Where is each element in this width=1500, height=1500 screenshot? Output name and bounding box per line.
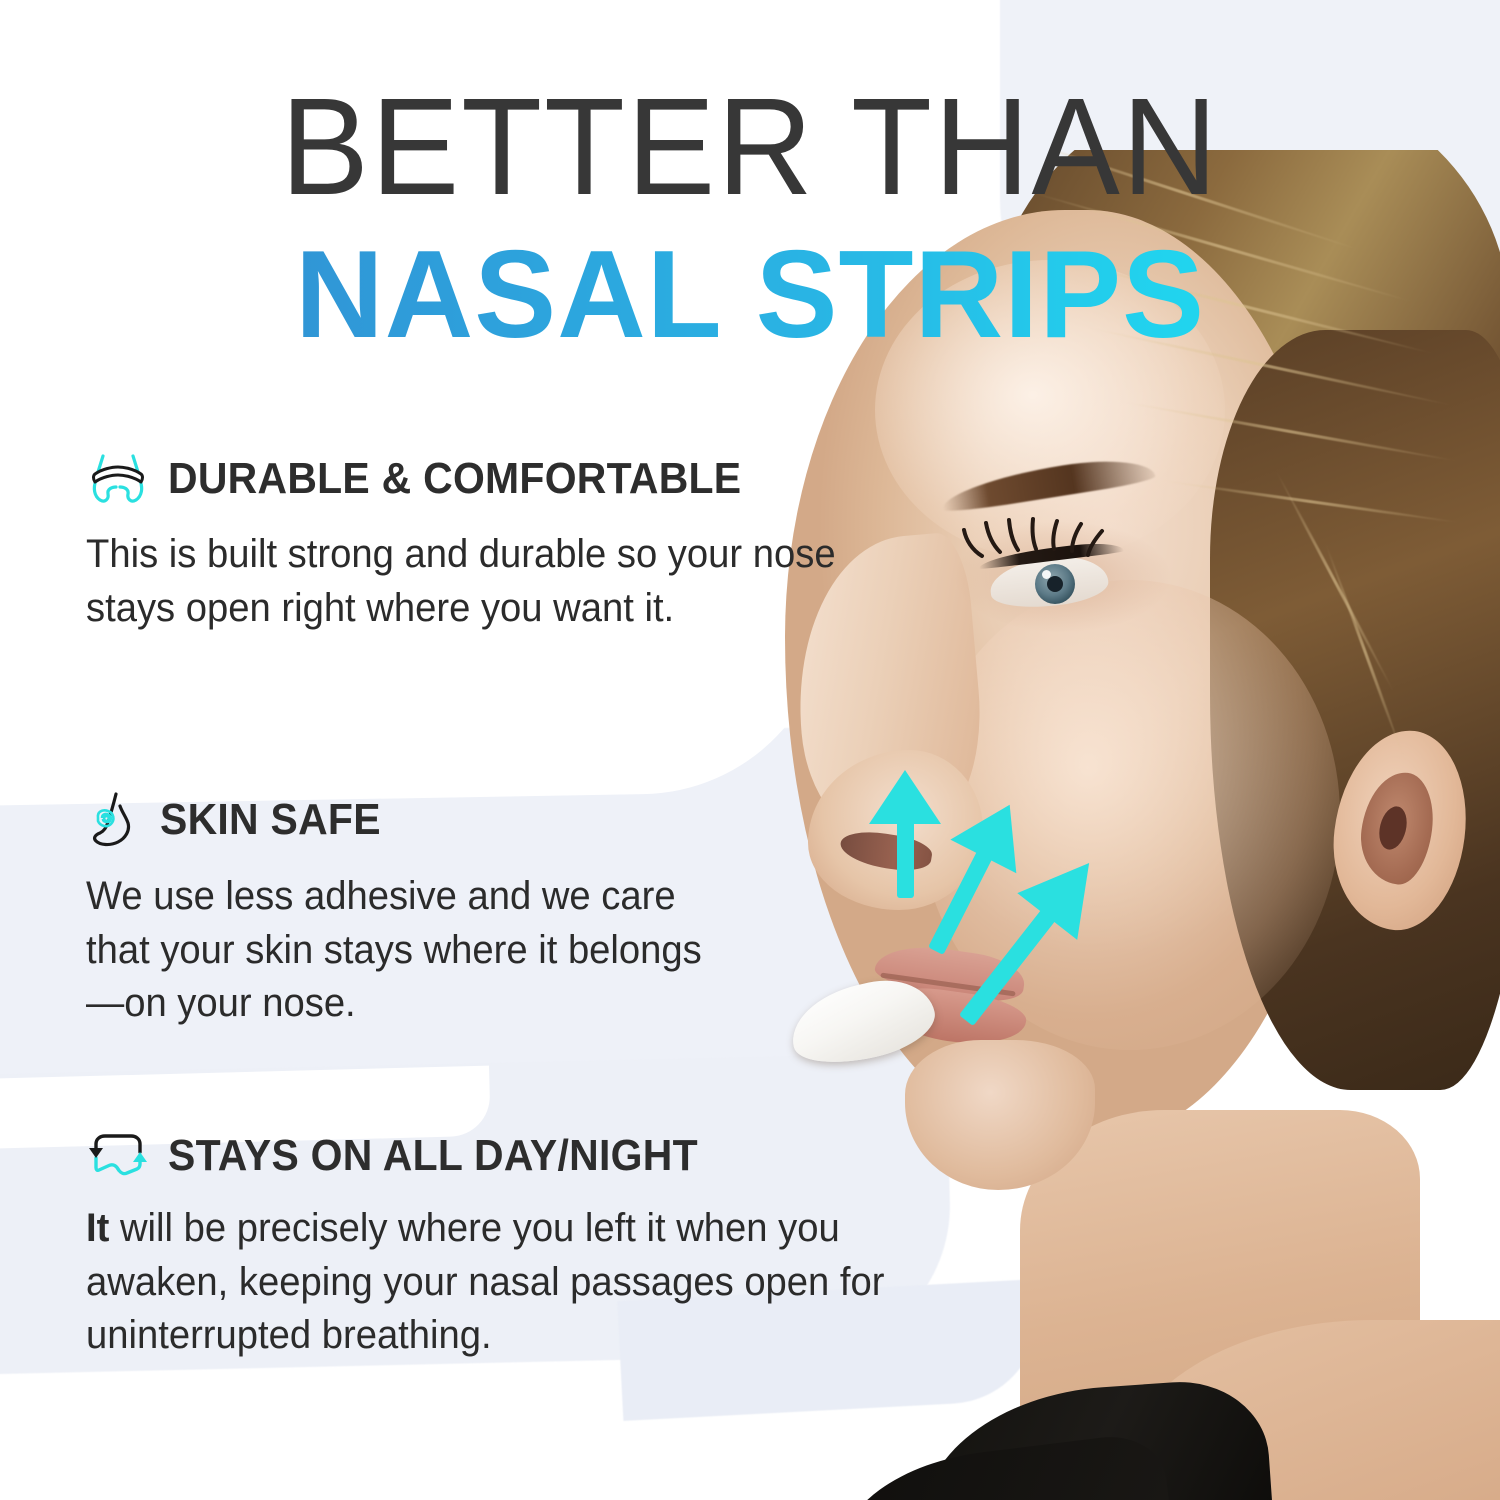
feature-skin-safe: SKIN SAFE We use less adhesive and we ca…	[86, 790, 746, 1031]
feature-body: It will be precisely where you left it w…	[86, 1202, 926, 1363]
feature-body-text: We use less adhesive and we care that yo…	[86, 874, 702, 1025]
feature-header: SKIN SAFE	[86, 790, 746, 850]
feature-header: DURABLE & COMFORTABLE	[86, 450, 886, 508]
nose-profile-skin-icon	[86, 790, 142, 850]
feature-title: STAYS ON ALL DAY/NIGHT	[168, 1131, 698, 1181]
feature-body-lead: It	[86, 1206, 109, 1250]
feature-title: DURABLE & COMFORTABLE	[168, 454, 741, 504]
feature-stays-on-all-day-night: STAYS ON ALL DAY/NIGHT It will be precis…	[86, 1130, 966, 1363]
feature-title: SKIN SAFE	[160, 795, 381, 845]
feature-body-text: will be precisely where you left it when…	[86, 1206, 884, 1357]
feature-body-text: This is built strong and durable so your…	[86, 532, 836, 630]
headline-line-2: NASAL STRIPS	[8, 232, 1493, 358]
feature-body: We use less adhesive and we care that yo…	[86, 870, 716, 1031]
feature-header: STAYS ON ALL DAY/NIGHT	[86, 1130, 966, 1182]
day-night-loop-icon	[86, 1130, 150, 1182]
nose-with-strip-icon	[86, 450, 150, 508]
infographic-canvas: BETTER THAN NASAL STRIPS DURABLE & COMFO…	[0, 0, 1500, 1500]
headline: BETTER THAN NASAL STRIPS	[0, 78, 1500, 358]
headline-line-1: BETTER THAN	[30, 78, 1470, 216]
feature-body: This is built strong and durable so your…	[86, 528, 850, 635]
feature-durable-comfortable: DURABLE & COMFORTABLE This is built stro…	[86, 450, 886, 635]
